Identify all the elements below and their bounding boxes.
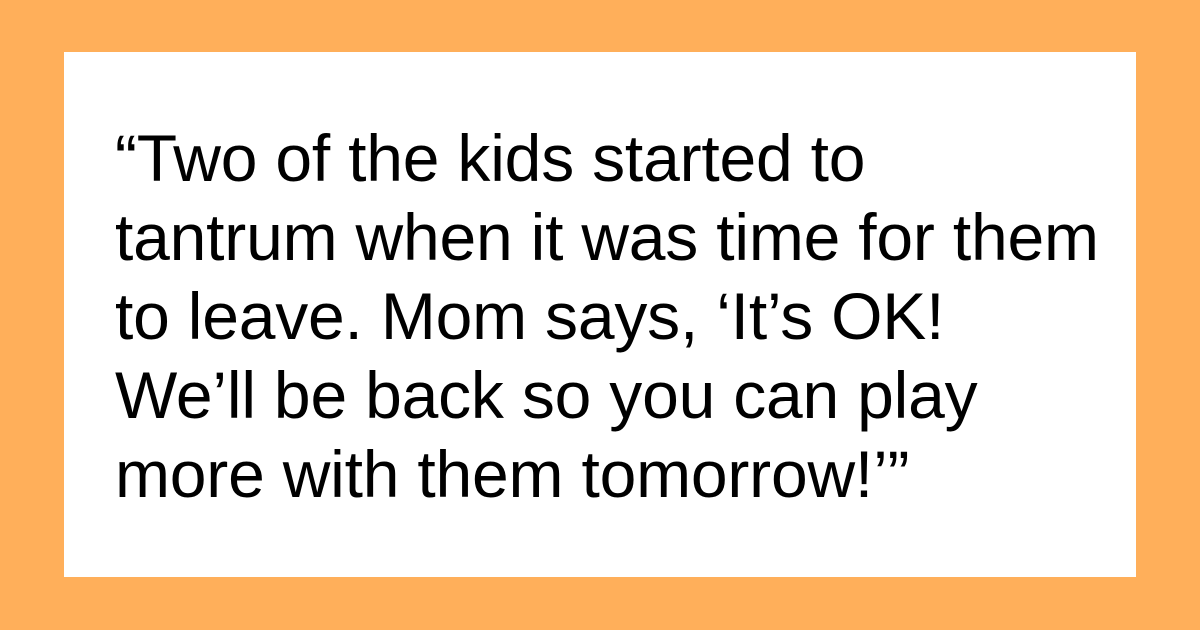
quote-text: “Two of the kids started to tantrum when… [115, 119, 1100, 514]
quote-card-panel: “Two of the kids started to tantrum when… [64, 52, 1136, 577]
social-quote-card-image: “Two of the kids started to tantrum when… [0, 0, 1200, 630]
